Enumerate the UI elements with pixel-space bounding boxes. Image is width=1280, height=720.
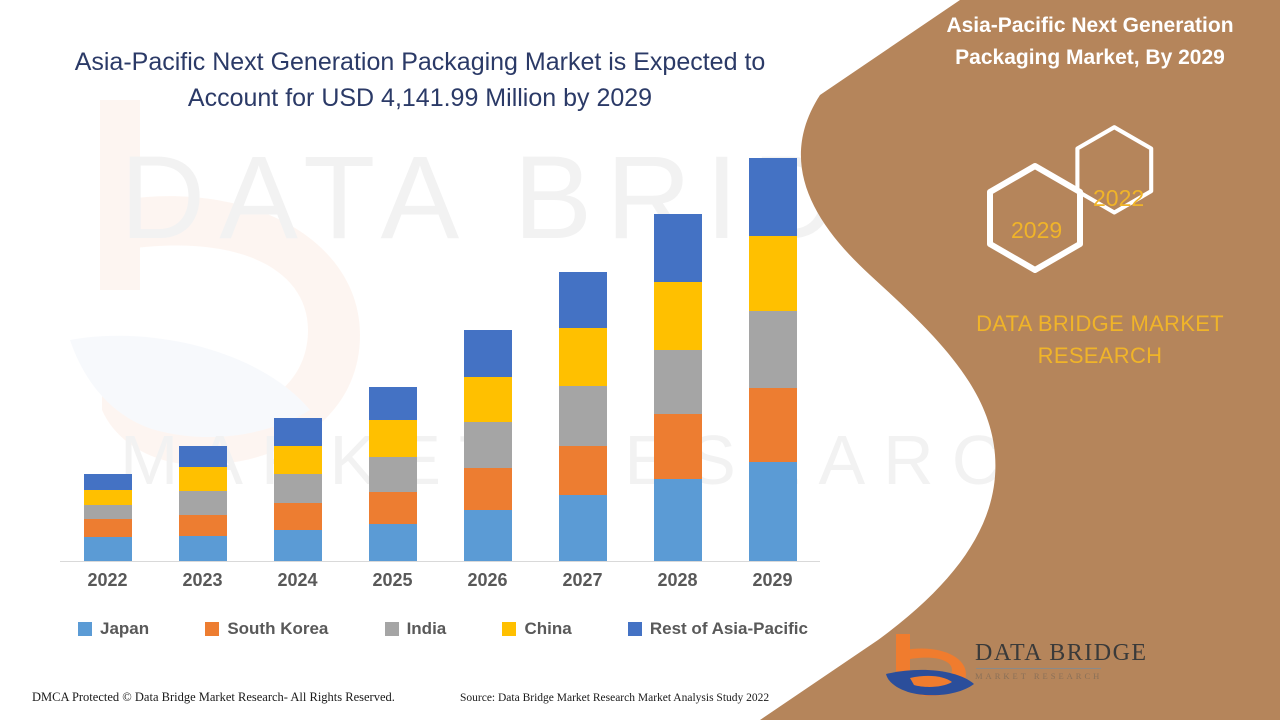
stacked-bar[interactable] [179,446,227,561]
bar-column [535,151,630,561]
bar-segment[interactable] [749,236,797,310]
x-axis-tick-label: 2026 [440,570,535,600]
x-axis-line [60,561,820,562]
legend-item[interactable]: China [502,619,571,639]
bar-segment[interactable] [84,474,132,490]
bar-segment[interactable] [369,492,417,524]
hexagon-2029-label: 2029 [1011,217,1062,244]
x-axis-tick-label: 2022 [60,570,155,600]
bar-segment[interactable] [274,530,322,561]
x-axis-tick-label: 2027 [535,570,630,600]
bar-segment[interactable] [464,510,512,561]
bar-segment[interactable] [274,418,322,446]
bar-segment[interactable] [749,311,797,389]
bar-group [60,151,820,561]
bar-segment[interactable] [369,457,417,492]
chart-plot-area [60,150,820,562]
bar-segment[interactable] [84,519,132,537]
hexagon-badges: 2022 2029 [975,125,1205,285]
bar-segment[interactable] [179,446,227,468]
logo-name: DATA BRIDGE [975,640,1148,667]
stacked-bar[interactable] [559,272,607,561]
legend-label: Japan [100,619,149,639]
panel-title-line-2: Packaging Market, By 2029 [915,42,1265,74]
bar-segment[interactable] [559,495,607,561]
bar-column [345,151,440,561]
bar-column [155,151,250,561]
brand-line-1: DATA BRIDGE MARKET [950,308,1250,340]
legend-label: China [524,619,571,639]
stacked-bar[interactable] [274,418,322,561]
bar-segment[interactable] [84,537,132,561]
logo-wordmark: DATA BRIDGE MARKET RESEARCH [975,640,1148,681]
footer-source-text: Source: Data Bridge Market Research Mark… [460,692,769,704]
bar-segment[interactable] [179,515,227,537]
footer: DMCA Protected © Data Bridge Market Rese… [0,682,860,720]
bar-column [60,151,155,561]
stacked-bar[interactable] [654,214,702,561]
legend-item[interactable]: South Korea [205,619,328,639]
bar-segment[interactable] [749,462,797,561]
x-axis-tick-label: 2024 [250,570,345,600]
panel-title-line-1: Asia-Pacific Next Generation [915,10,1265,42]
x-axis-tick-label: 2028 [630,570,725,600]
bar-segment[interactable] [654,479,702,561]
bar-segment[interactable] [654,214,702,282]
legend-label: South Korea [227,619,328,639]
chart-legend: JapanSouth KoreaIndiaChinaRest of Asia-P… [78,615,808,643]
bar-column [725,151,820,561]
bar-segment[interactable] [274,474,322,503]
bar-segment[interactable] [654,350,702,415]
legend-item[interactable]: India [385,619,447,639]
page-title: Asia-Pacific Next Generation Packaging M… [40,44,800,116]
bar-segment[interactable] [559,386,607,445]
bar-segment[interactable] [274,503,322,530]
bar-segment[interactable] [369,524,417,561]
bar-segment[interactable] [369,387,417,419]
bar-segment[interactable] [179,467,227,491]
bar-segment[interactable] [654,282,702,350]
bar-column [440,151,535,561]
hexagon-outline-icons [975,125,1205,285]
bar-segment[interactable] [464,330,512,376]
legend-swatch-icon [385,622,399,636]
x-axis-tick-label: 2023 [155,570,250,600]
bar-segment[interactable] [464,468,512,510]
hexagon-2022-label: 2022 [1093,185,1144,212]
x-axis-labels: 20222023202420252026202720282029 [60,570,820,600]
bar-column [630,151,725,561]
bar-segment[interactable] [464,422,512,468]
brand-name: DATA BRIDGE MARKET RESEARCH [950,308,1250,372]
bar-segment[interactable] [559,328,607,386]
legend-label: Rest of Asia-Pacific [650,619,808,639]
bar-segment[interactable] [179,491,227,515]
bar-segment[interactable] [749,158,797,237]
stacked-bar[interactable] [369,387,417,561]
legend-swatch-icon [205,622,219,636]
legend-swatch-icon [628,622,642,636]
stacked-bar[interactable] [84,474,132,561]
logo-divider [976,668,1101,669]
infographic-root: DATA BRIDGE MARKET RESEARCH Asia-Pacific… [0,0,1280,720]
brand-line-2: RESEARCH [950,340,1250,372]
bar-segment[interactable] [654,414,702,479]
bar-segment[interactable] [559,272,607,328]
bar-segment[interactable] [84,505,132,519]
panel-title: Asia-Pacific Next Generation Packaging M… [915,10,1265,74]
bar-segment[interactable] [274,446,322,474]
legend-swatch-icon [502,622,516,636]
bar-segment[interactable] [84,490,132,505]
legend-swatch-icon [78,622,92,636]
footer-dmca-text: DMCA Protected © Data Bridge Market Rese… [32,690,395,705]
bar-segment[interactable] [464,377,512,422]
stacked-bar[interactable] [749,158,797,561]
legend-label: India [407,619,447,639]
legend-item[interactable]: Japan [78,619,149,639]
stacked-bar[interactable] [464,330,512,561]
bar-segment[interactable] [749,388,797,461]
bar-column [250,151,345,561]
x-axis-tick-label: 2029 [725,570,820,600]
bar-segment[interactable] [369,420,417,458]
logo-tagline: MARKET RESEARCH [975,671,1148,681]
bar-segment[interactable] [559,446,607,496]
legend-item[interactable]: Rest of Asia-Pacific [628,619,808,639]
bar-segment[interactable] [179,536,227,561]
x-axis-tick-label: 2025 [345,570,440,600]
